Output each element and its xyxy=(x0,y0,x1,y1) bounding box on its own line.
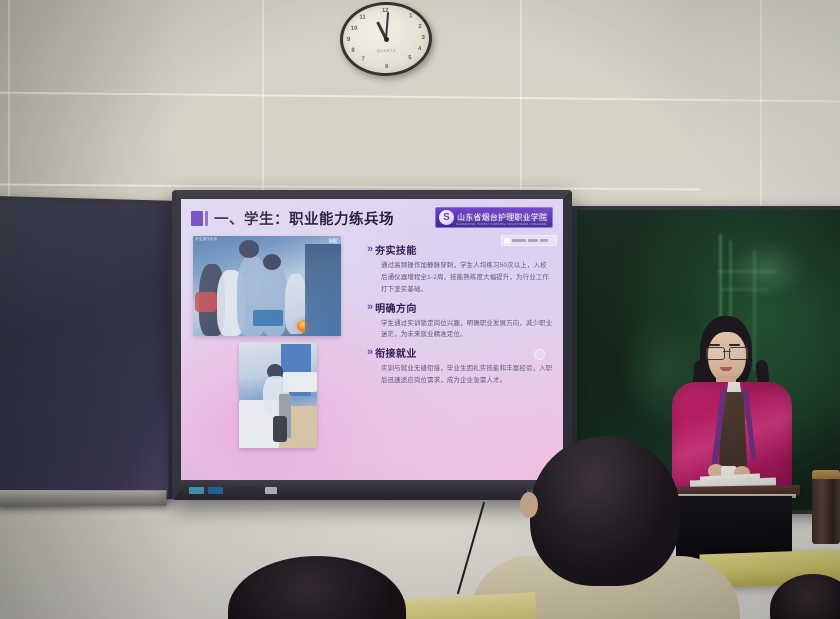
bullet-head-2: » 明确方向 xyxy=(367,300,553,315)
wall-seam-vertical-1 xyxy=(8,0,10,200)
classroom-photo: 12 1 2 3 4 5 6 7 8 9 10 11 QUARTZ xyxy=(0,0,840,619)
slide-photo-column: 学生操作实训 ME xyxy=(191,234,359,480)
presenter-brow-right xyxy=(729,344,740,346)
glasses-lens-right xyxy=(729,347,748,360)
display-control-bar[interactable]: SMART xyxy=(181,480,563,500)
title-accent-block xyxy=(191,211,203,226)
clock-brand-label: QUARTZ xyxy=(377,48,396,54)
interactive-flat-panel[interactable]: 一、学生：职业能力练兵场 S 山东省烟台护理职业学院 SHANDONG YANT… xyxy=(172,190,572,500)
title-accent-bar xyxy=(205,211,208,226)
bullet-text-1: 通过高频操作加静脉穿刺，学生人均练习50次以上，入校后通仪器增程全1-2周，技能… xyxy=(381,260,553,296)
glasses-icon xyxy=(705,347,749,358)
audience-member-front xyxy=(530,436,680,586)
chevron-right-icon-3: » xyxy=(367,347,371,358)
clock-tick-9: 9 xyxy=(347,37,350,43)
clock-tick-3: 3 xyxy=(422,35,425,41)
school-logo-icon: S xyxy=(439,210,454,225)
screen-overlay-chip xyxy=(501,235,557,246)
volume-button[interactable] xyxy=(265,487,277,494)
slide-title: 一、学生：职业能力练兵场 xyxy=(214,208,394,229)
overlay-line-1 xyxy=(512,239,526,242)
slide-body: 学生操作实训 ME xyxy=(191,234,553,480)
slide-bullet-column: » 夯实技能 通过高频操作加静脉穿刺，学生人均练习50次以上，入校后通仪器增程全… xyxy=(367,234,553,480)
photo-skills-training: 学生操作实训 ME xyxy=(193,236,341,336)
wall-seam-vertical-2 xyxy=(262,0,264,190)
bullet-title-2: 明确方向 xyxy=(375,300,417,315)
tumbler xyxy=(812,474,840,544)
glasses-lens-left xyxy=(706,347,725,360)
display-screen[interactable]: 一、学生：职业能力练兵场 S 山东省烟台护理职业学院 SHANDONG YANT… xyxy=(181,199,563,480)
bullet-title-3: 衔接就业 xyxy=(375,345,417,360)
bullet-text-3: 实训与就业无缝衔接，毕业生因扎实技能和丰富经验，入职后迅速适应岗位需求，成为企业… xyxy=(381,363,553,387)
chevron-right-icon: » xyxy=(367,244,371,255)
clock-tick-10: 10 xyxy=(351,26,358,32)
slide-header: 一、学生：职业能力练兵场 S 山东省烟台护理职业学院 SHANDONG YANT… xyxy=(191,207,553,229)
bullet-text-2: 学生通过实训锁定岗位兴趣，明确职业发展方向，减少职业迷茫，为未来就业精准定位。 xyxy=(381,318,553,342)
bullet-head-3: » 衔接就业 xyxy=(367,345,553,360)
wall-seam-vertical-3 xyxy=(520,0,522,200)
clock-minute-hand xyxy=(385,12,389,39)
photo-caption-1: 学生操作实训 xyxy=(195,237,217,242)
clock-tick-11: 11 xyxy=(359,15,365,21)
clock-tick-6: 6 xyxy=(385,64,388,70)
clock-tick-4: 4 xyxy=(418,46,421,52)
bullet-item-3: » 衔接就业 实训与就业无缝衔接，毕业生因扎实技能和丰富经验，入职后迅速适应岗位… xyxy=(367,345,553,387)
bullet-title-1: 夯实技能 xyxy=(375,242,417,257)
bullet-item-2: » 明确方向 学生通过实训锁定岗位兴趣，明确职业发展方向，减少职业迷茫，为未来就… xyxy=(367,300,553,342)
wall-seam-vertical-4 xyxy=(760,0,762,210)
tumbler-cap xyxy=(812,470,840,479)
source-button[interactable] xyxy=(208,487,223,494)
secondary-display-panel[interactable] xyxy=(0,196,173,504)
clock-tick-8: 8 xyxy=(351,48,354,54)
clock-tick-1: 1 xyxy=(409,13,412,19)
chevron-right-icon-2: » xyxy=(367,302,371,313)
photo-nursing-practice xyxy=(239,342,317,448)
overlay-line-3 xyxy=(540,239,548,242)
bullet-item-1: » 夯实技能 通过高频操作加静脉穿刺，学生人均练习50次以上，入校后通仪器增程全… xyxy=(367,242,553,296)
overlay-line-2 xyxy=(528,239,538,242)
clock-tick-5: 5 xyxy=(408,55,411,61)
menu-button[interactable] xyxy=(227,487,261,494)
presenter-brow-left xyxy=(709,344,720,346)
clock-tick-2: 2 xyxy=(418,24,421,30)
secondary-display-tray xyxy=(0,490,167,506)
school-logo-subtitle: SHANDONG YANTAI NURSING VOCATIONAL COLLE… xyxy=(456,222,548,226)
power-button[interactable] xyxy=(189,487,204,494)
presentation-slide: 一、学生：职业能力练兵场 S 山东省烟台护理职业学院 SHANDONG YANT… xyxy=(181,199,563,480)
overlay-square-icon xyxy=(504,238,510,244)
clock-center-pin xyxy=(383,36,388,41)
podium-body xyxy=(676,496,792,558)
clock-tick-7: 7 xyxy=(361,57,364,63)
school-logo-banner: S 山东省烟台护理职业学院 SHANDONG YANTAI NURSING VO… xyxy=(435,207,553,228)
screen-overlay-dot xyxy=(534,349,545,360)
audience-ear xyxy=(520,492,538,518)
chalk-smudge-1 xyxy=(727,240,807,300)
